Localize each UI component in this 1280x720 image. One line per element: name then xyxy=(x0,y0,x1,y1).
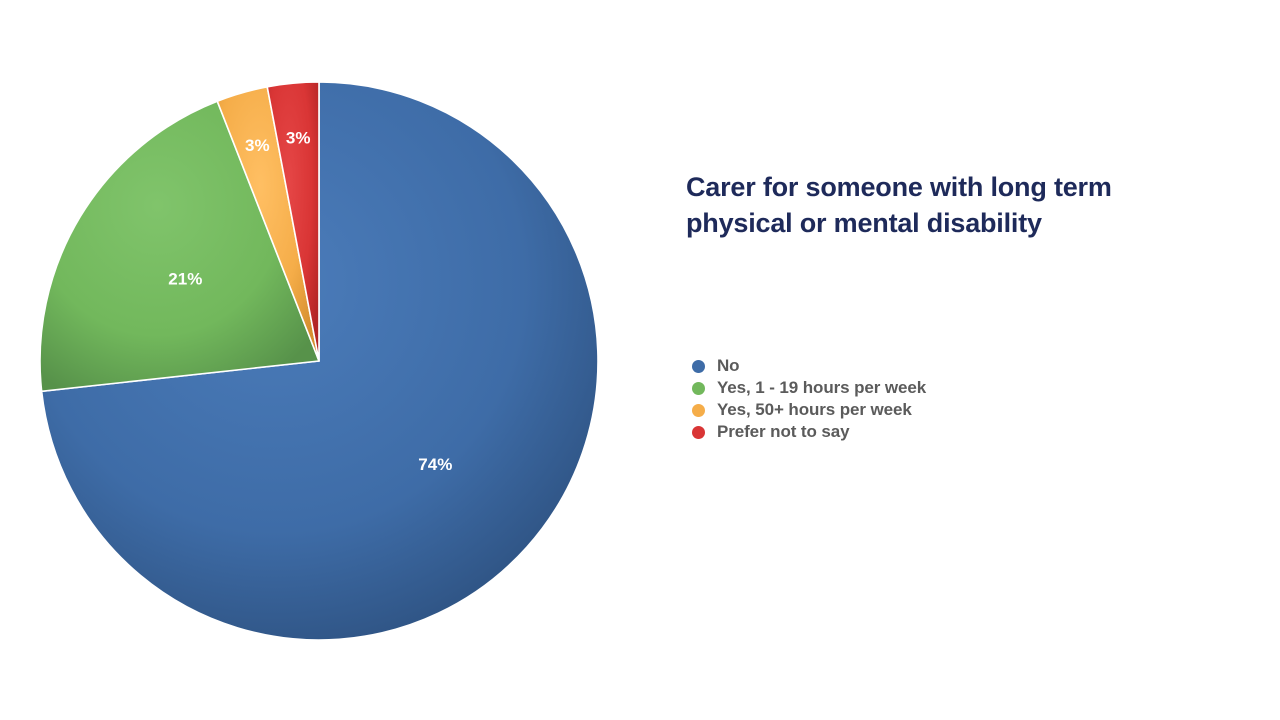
legend-color-swatch-icon xyxy=(692,404,705,417)
chart-title-line-1: Carer for someone with long term xyxy=(686,172,1112,202)
legend-item[interactable]: Prefer not to say xyxy=(686,421,1106,443)
pie-slices xyxy=(40,82,598,640)
legend-item-label: Prefer not to say xyxy=(717,422,849,442)
legend-item-label: Yes, 1 - 19 hours per week xyxy=(717,378,926,398)
chart-title: Carer for someone with long term physica… xyxy=(686,170,1186,241)
legend-item-label: No xyxy=(717,356,739,376)
pie-slice-value-label: 74% xyxy=(418,455,452,474)
pie-slice-value-label: 3% xyxy=(245,136,270,155)
legend-item[interactable]: Yes, 1 - 19 hours per week xyxy=(686,377,1106,399)
legend-color-swatch-icon xyxy=(692,426,705,439)
pie-chart-svg: 74%21%3%3% xyxy=(0,0,660,720)
pie-chart-area: 74%21%3%3% xyxy=(0,0,660,720)
legend-color-swatch-icon xyxy=(692,382,705,395)
legend-item-label: Yes, 50+ hours per week xyxy=(717,400,912,420)
legend-item[interactable]: Yes, 50+ hours per week xyxy=(686,399,1106,421)
legend-color-swatch-icon xyxy=(692,360,705,373)
chart-title-line-2: physical or mental disability xyxy=(686,208,1042,238)
pie-slice-value-label: 21% xyxy=(168,270,202,289)
legend-item[interactable]: No xyxy=(686,355,1106,377)
chart-side-panel: Carer for someone with long term physica… xyxy=(686,0,1246,720)
pie-slice-value-label: 3% xyxy=(286,128,311,147)
chart-canvas: 74%21%3%3% Carer for someone with long t… xyxy=(0,0,1280,720)
chart-legend: NoYes, 1 - 19 hours per weekYes, 50+ hou… xyxy=(686,355,1106,443)
